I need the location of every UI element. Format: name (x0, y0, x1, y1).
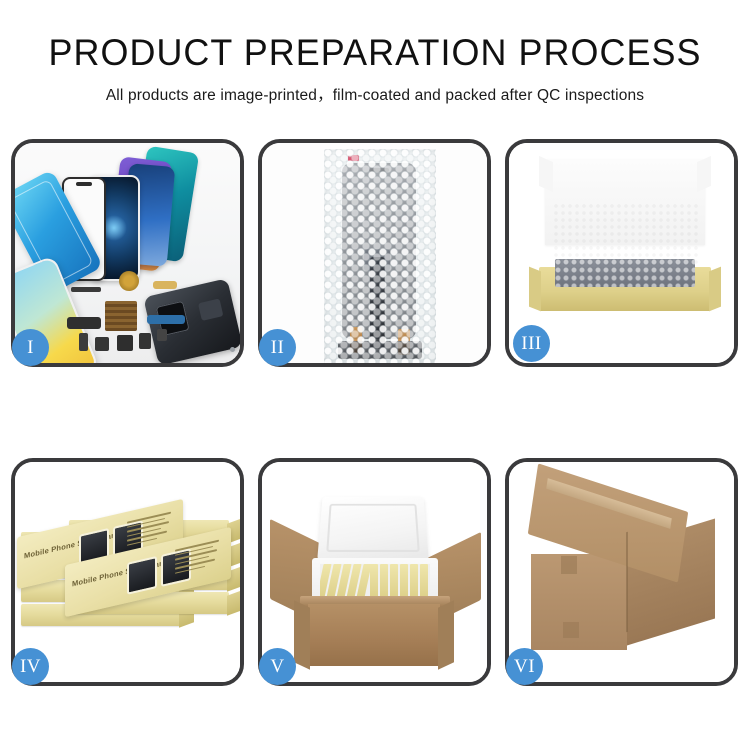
bubble-wrapped-contents-icon (555, 259, 695, 287)
part-bracket-icon (67, 317, 101, 329)
step-image-5 (262, 462, 487, 682)
bubble-texture-overlay (324, 149, 436, 363)
page-subtitle: All products are image-printed，film-coat… (0, 83, 750, 105)
carton-body-icon (308, 604, 440, 666)
step-panel-5[interactable]: V (258, 458, 491, 686)
retail-boxes-right-group (370, 564, 428, 598)
screw-icon (230, 347, 235, 352)
step-image-4: Mobile Phone Spare Parts Mobile Phone Sp… (15, 462, 240, 682)
flex-cable-icon (71, 287, 101, 292)
vibration-motor-icon (119, 271, 139, 291)
step-image-1 (15, 143, 240, 363)
camera-module-icon (139, 333, 151, 349)
small-part-b-icon (95, 337, 109, 351)
chip-grid-icon (105, 301, 137, 331)
box-window-phone-icon (127, 556, 157, 595)
step-illustration-6 (509, 462, 734, 682)
blue-flex-icon (147, 315, 185, 324)
step-badge-4: IV (12, 648, 49, 685)
small-part-a-icon (79, 333, 88, 351)
step-badge-1: I (12, 329, 49, 366)
small-part-c-icon (157, 329, 167, 341)
retail-box-stack: Mobile Phone Spare Parts Mobile Phone Sp… (17, 484, 240, 680)
carton-edge-seam (626, 532, 628, 633)
bubble-wrap-bag (324, 149, 436, 363)
speaker-module-icon (117, 335, 133, 351)
box-spec-lines (175, 539, 221, 580)
carton-flap-tab-icon (561, 556, 577, 574)
step-badge-2: II (259, 329, 296, 366)
retail-boxes-left-group (320, 564, 368, 598)
kraft-box-tray-icon (539, 267, 711, 311)
step-image-2 (262, 143, 487, 363)
page-title: PRODUCT PREPARATION PROCESS (11, 34, 739, 71)
spare-parts-group (67, 271, 215, 363)
step-image-6 (509, 462, 734, 682)
carton-hand-hole-icon (563, 622, 579, 638)
step-illustration-4: Mobile Phone Spare Parts Mobile Phone Sp… (15, 462, 240, 682)
carton-front-face-icon (531, 554, 627, 650)
step-panel-6[interactable]: VI (505, 458, 738, 686)
gold-connector-icon (153, 281, 177, 289)
step-panel-3[interactable]: III (505, 139, 738, 367)
foam-box-contents (320, 564, 430, 598)
step-panel-4[interactable]: Mobile Phone Spare Parts Mobile Phone Sp… (11, 458, 244, 686)
step-illustration-1 (15, 143, 240, 363)
page-header: PRODUCT PREPARATION PROCESS All products… (0, 0, 750, 105)
step-illustration-5 (262, 462, 487, 682)
step-badge-6: VI (506, 648, 543, 685)
step-badge-3: III (513, 325, 550, 362)
step-illustration-2 (262, 143, 487, 363)
step-panel-2[interactable]: II (258, 139, 491, 367)
step-panel-1[interactable]: I (11, 139, 244, 367)
process-step-grid: I II (11, 139, 739, 686)
foam-box-lid-icon (317, 497, 429, 561)
step-badge-5: V (259, 648, 296, 685)
